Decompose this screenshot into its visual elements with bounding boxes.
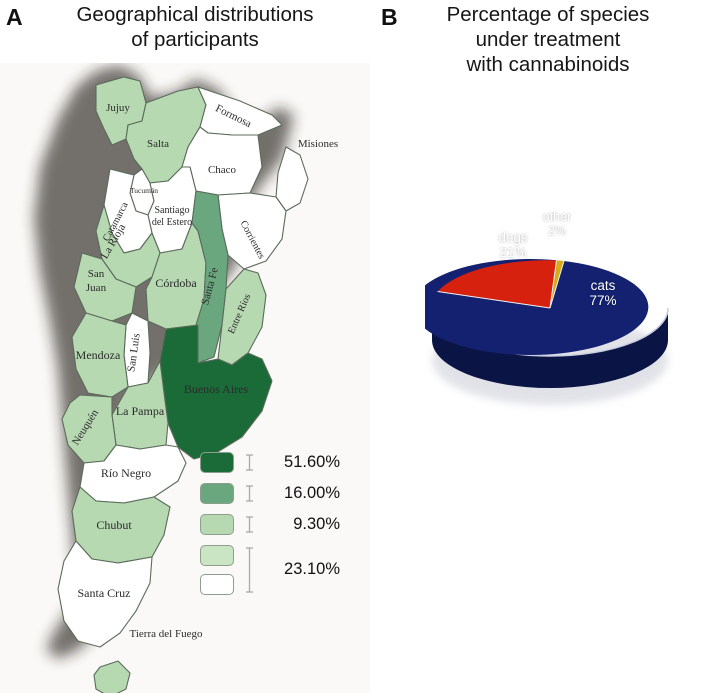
panel-b-title-line3: with cannabinoids <box>398 52 698 77</box>
pie-label-other-name: other <box>543 210 572 224</box>
argentina-map-svg: Jujuy Salta Tucumán Catamarca Santiago d… <box>0 63 370 693</box>
label-chaco: Chaco <box>208 164 237 176</box>
label-santa-cruz: Santa Cruz <box>78 586 131 600</box>
legend-row-3 <box>200 545 234 566</box>
map-legend: 51.60% 16.00% 9.30% <box>200 452 350 587</box>
label-rio-negro: Río Negro <box>101 466 151 480</box>
legend-value-1: 16.00% <box>262 484 340 503</box>
label-buenos-aires: Buenos Aires <box>184 382 249 396</box>
panel-a-title-line1: Geographical distributions <box>30 2 360 27</box>
label-juan: Juan <box>86 282 107 294</box>
label-salta: Salta <box>147 138 169 150</box>
legend-row-4 <box>200 574 234 595</box>
pie-label-other: other 2% <box>529 210 585 238</box>
panel-a: A Geographical distributions of particip… <box>0 0 370 693</box>
panel-b-title: Percentage of species under treatment wi… <box>398 2 698 77</box>
figure-root: A Geographical distributions of particip… <box>0 0 708 693</box>
label-santiago: Santiago <box>155 205 190 216</box>
label-jujuy: Jujuy <box>106 102 130 114</box>
panel-a-title: Geographical distributions of participan… <box>30 2 360 52</box>
legend-swatch-3 <box>200 545 234 566</box>
legend-swatch-0 <box>200 452 234 473</box>
legend-swatch-4 <box>200 574 234 595</box>
legend-row-0 <box>200 452 234 473</box>
pie-label-dogs-value: 21% <box>483 245 543 260</box>
label-del-estero: del Estero <box>152 217 192 228</box>
legend-bracket-3 <box>245 547 254 593</box>
legend-value-3: 23.10% <box>262 560 340 579</box>
legend-value-0: 51.60% <box>262 453 340 472</box>
panel-b-letter: B <box>381 4 398 31</box>
legend-bracket-1 <box>245 485 254 502</box>
label-tierra-del-fuego: Tierra del Fuego <box>130 628 203 640</box>
label-chubut: Chubut <box>96 518 132 532</box>
label-misiones: Misiones <box>298 138 338 150</box>
argentina-map: Jujuy Salta Tucumán Catamarca Santiago d… <box>0 63 370 693</box>
legend-bracket-0 <box>245 454 254 471</box>
legend-row-2 <box>200 514 234 535</box>
label-cordoba: Córdoba <box>155 276 197 290</box>
legend-swatch-1 <box>200 483 234 504</box>
panel-b-title-line1: Percentage of species <box>398 2 698 27</box>
panel-b-title-line2: under treatment <box>398 27 698 52</box>
legend-bracket-2 <box>245 516 254 533</box>
legend-value-2: 9.30% <box>262 515 340 534</box>
label-tucuman: Tucumán <box>130 186 158 195</box>
pie-label-cats-name: cats <box>591 278 616 293</box>
panel-b: B Percentage of species under treatment … <box>370 0 708 693</box>
panel-a-title-line2: of participants <box>30 27 360 52</box>
pie-label-cats-value: 77% <box>573 293 633 308</box>
legend-swatch-2 <box>200 514 234 535</box>
label-mendoza: Mendoza <box>76 348 121 362</box>
province-formosa <box>198 87 282 135</box>
legend-row-1 <box>200 483 234 504</box>
panel-a-letter: A <box>6 4 23 31</box>
label-san: San <box>88 268 105 280</box>
province-tierra-del-fuego <box>94 661 130 693</box>
pie-label-dogs-name: dogs <box>498 230 527 245</box>
pie-label-cats: cats 77% <box>573 278 633 308</box>
species-pie-chart: cats 77% dogs 21% other 2% <box>425 200 675 420</box>
pie-label-other-value: 2% <box>529 224 585 238</box>
label-la-pampa: La Pampa <box>116 404 165 418</box>
